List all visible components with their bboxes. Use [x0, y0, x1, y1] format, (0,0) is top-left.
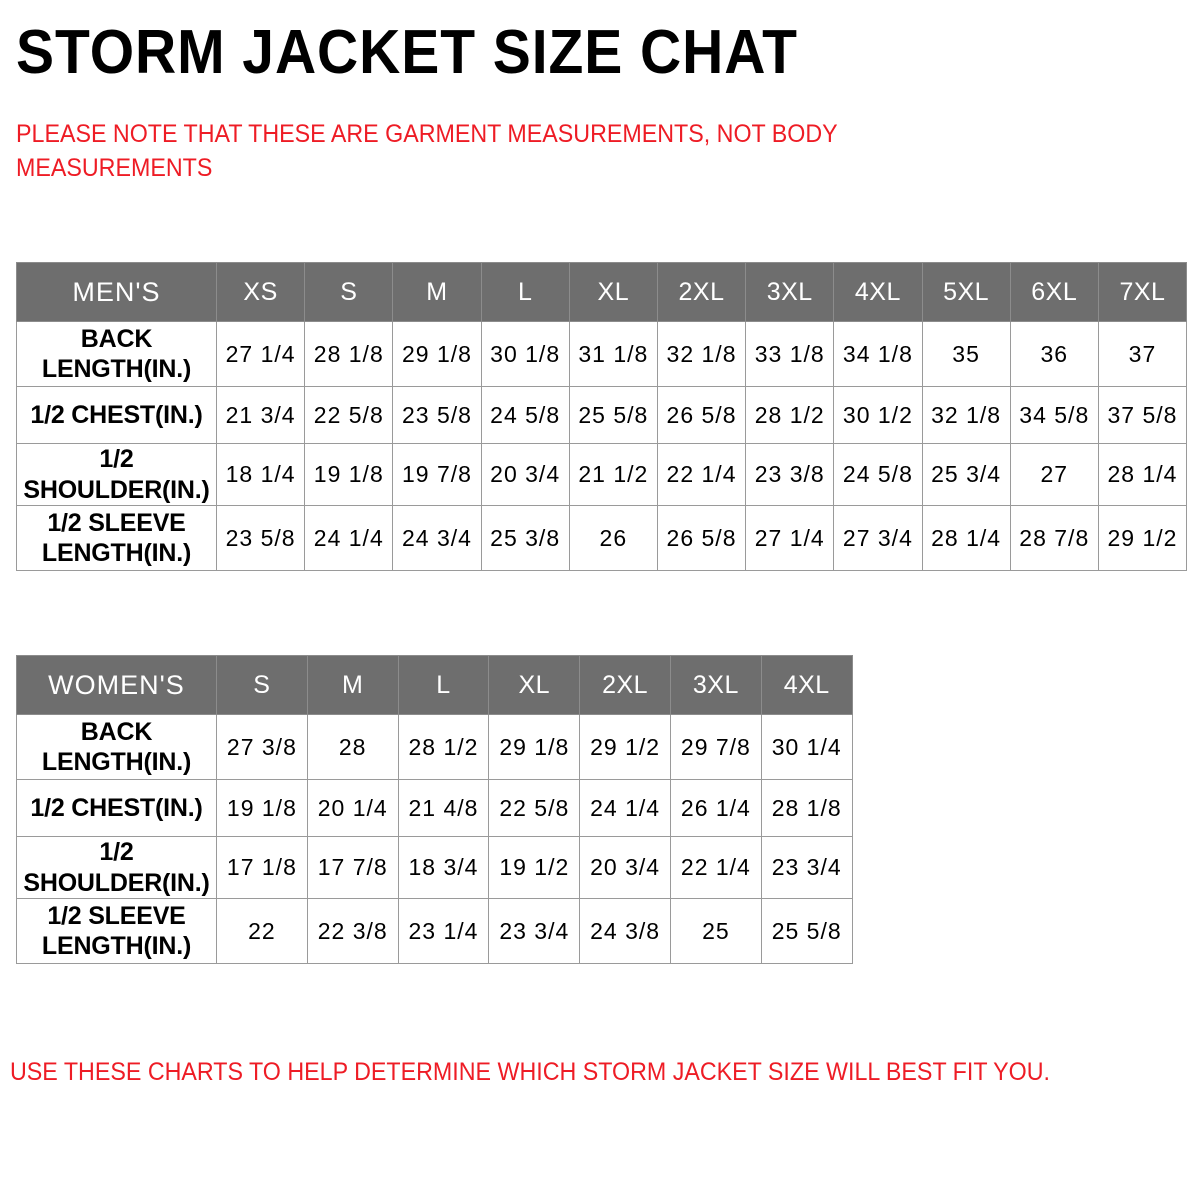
table-row: 1/2 SLEEVE LENGTH(IN.) 23 5/8 24 1/4 24 …	[17, 506, 1187, 571]
measurement-cell: 25 5/8	[569, 387, 657, 444]
measurement-cell: 22 5/8	[489, 780, 580, 837]
mens-size-header: S	[305, 263, 393, 322]
measurement-cell: 25 3/8	[481, 506, 569, 571]
measurement-cell: 23 3/4	[761, 837, 852, 899]
mens-size-header: 5XL	[922, 263, 1010, 322]
measurement-cell: 18 1/4	[217, 444, 305, 506]
mens-size-table: MEN'S XS S M L XL 2XL 3XL 4XL 5XL 6XL 7X…	[16, 262, 1187, 571]
womens-size-header: M	[307, 656, 398, 715]
row-label-half-sleeve-length: 1/2 SLEEVE LENGTH(IN.)	[17, 899, 217, 964]
measurement-cell: 23 3/4	[489, 899, 580, 964]
mens-header-row: MEN'S XS S M L XL 2XL 3XL 4XL 5XL 6XL 7X…	[17, 263, 1187, 322]
womens-size-header: 2XL	[580, 656, 671, 715]
measurement-cell: 17 1/8	[217, 837, 308, 899]
measurement-cell: 32 1/8	[657, 322, 745, 387]
measurement-cell: 22 5/8	[305, 387, 393, 444]
measurement-cell: 27 1/4	[217, 322, 305, 387]
measurement-cell: 29 1/2	[580, 715, 671, 780]
womens-size-header: L	[398, 656, 489, 715]
row-label-back-length: BACK LENGTH(IN.)	[17, 715, 217, 780]
mens-size-header: XS	[217, 263, 305, 322]
measurement-cell: 37	[1098, 322, 1186, 387]
size-chart-page: STORM JACKET SIZE CHAT PLEASE NOTE THAT …	[0, 0, 1200, 1200]
fit-guidance-note: USE THESE CHARTS TO HELP DETERMINE WHICH…	[10, 1058, 1107, 1087]
womens-size-header: XL	[489, 656, 580, 715]
table-row: BACK LENGTH(IN.) 27 1/4 28 1/8 29 1/8 30…	[17, 322, 1187, 387]
mens-size-header: M	[393, 263, 481, 322]
measurement-cell: 21 1/2	[569, 444, 657, 506]
table-row: 1/2 SHOULDER(IN.) 18 1/4 19 1/8 19 7/8 2…	[17, 444, 1187, 506]
row-label-back-length: BACK LENGTH(IN.)	[17, 322, 217, 387]
measurement-cell: 24 5/8	[481, 387, 569, 444]
measurement-cell: 28	[307, 715, 398, 780]
garment-measurement-note: PLEASE NOTE THAT THESE ARE GARMENT MEASU…	[16, 118, 946, 186]
measurement-cell: 29 1/8	[393, 322, 481, 387]
measurement-cell: 30 1/8	[481, 322, 569, 387]
measurement-cell: 24 5/8	[834, 444, 922, 506]
row-label-half-chest: 1/2 CHEST(IN.)	[17, 780, 217, 837]
measurement-cell: 27	[1010, 444, 1098, 506]
mens-size-header: 7XL	[1098, 263, 1186, 322]
measurement-cell: 20 1/4	[307, 780, 398, 837]
measurement-cell: 21 3/4	[217, 387, 305, 444]
measurement-cell: 23 3/8	[746, 444, 834, 506]
mens-size-header: L	[481, 263, 569, 322]
mens-size-header: 6XL	[1010, 263, 1098, 322]
measurement-cell: 29 1/2	[1098, 506, 1186, 571]
measurement-cell: 27 3/8	[217, 715, 308, 780]
mens-size-header: 2XL	[657, 263, 745, 322]
measurement-cell: 26 5/8	[657, 506, 745, 571]
measurement-cell: 28 1/4	[1098, 444, 1186, 506]
measurement-cell: 20 3/4	[580, 837, 671, 899]
mens-size-header: XL	[569, 263, 657, 322]
page-title: STORM JACKET SIZE CHAT	[16, 22, 798, 84]
measurement-cell: 19 1/2	[489, 837, 580, 899]
row-label-half-shoulder: 1/2 SHOULDER(IN.)	[17, 837, 217, 899]
womens-size-header: 4XL	[761, 656, 852, 715]
table-row: BACK LENGTH(IN.) 27 3/8 28 28 1/2 29 1/8…	[17, 715, 853, 780]
mens-size-header: 3XL	[746, 263, 834, 322]
measurement-cell: 25	[670, 899, 761, 964]
measurement-cell: 18 3/4	[398, 837, 489, 899]
table-row: 1/2 SHOULDER(IN.) 17 1/8 17 7/8 18 3/4 1…	[17, 837, 853, 899]
row-label-half-chest: 1/2 CHEST(IN.)	[17, 387, 217, 444]
table-row: 1/2 SLEEVE LENGTH(IN.) 22 22 3/8 23 1/4 …	[17, 899, 853, 964]
mens-corner-label: MEN'S	[17, 263, 217, 322]
measurement-cell: 22 3/8	[307, 899, 398, 964]
table-row: 1/2 CHEST(IN.) 19 1/8 20 1/4 21 4/8 22 5…	[17, 780, 853, 837]
measurement-cell: 25 5/8	[761, 899, 852, 964]
measurement-cell: 28 1/8	[761, 780, 852, 837]
womens-table-head: WOMEN'S S M L XL 2XL 3XL 4XL	[17, 656, 853, 715]
womens-size-header: 3XL	[670, 656, 761, 715]
womens-table-body: BACK LENGTH(IN.) 27 3/8 28 28 1/2 29 1/8…	[17, 715, 853, 964]
measurement-cell: 24 3/4	[393, 506, 481, 571]
measurement-cell: 28 1/4	[922, 506, 1010, 571]
measurement-cell: 28 7/8	[1010, 506, 1098, 571]
measurement-cell: 17 7/8	[307, 837, 398, 899]
measurement-cell: 28 1/2	[746, 387, 834, 444]
mens-size-header: 4XL	[834, 263, 922, 322]
measurement-cell: 22 1/4	[670, 837, 761, 899]
measurement-cell: 27 1/4	[746, 506, 834, 571]
measurement-cell: 23 1/4	[398, 899, 489, 964]
measurement-cell: 25 3/4	[922, 444, 1010, 506]
measurement-cell: 29 1/8	[489, 715, 580, 780]
measurement-cell: 34 5/8	[1010, 387, 1098, 444]
measurement-cell: 24 1/4	[305, 506, 393, 571]
row-label-half-sleeve-length: 1/2 SLEEVE LENGTH(IN.)	[17, 506, 217, 571]
measurement-cell: 34 1/8	[834, 322, 922, 387]
measurement-cell: 19 7/8	[393, 444, 481, 506]
measurement-cell: 26	[569, 506, 657, 571]
measurement-cell: 30 1/2	[834, 387, 922, 444]
womens-header-row: WOMEN'S S M L XL 2XL 3XL 4XL	[17, 656, 853, 715]
measurement-cell: 30 1/4	[761, 715, 852, 780]
measurement-cell: 28 1/2	[398, 715, 489, 780]
measurement-cell: 31 1/8	[569, 322, 657, 387]
measurement-cell: 32 1/8	[922, 387, 1010, 444]
mens-table-head: MEN'S XS S M L XL 2XL 3XL 4XL 5XL 6XL 7X…	[17, 263, 1187, 322]
womens-size-header: S	[217, 656, 308, 715]
measurement-cell: 35	[922, 322, 1010, 387]
measurement-cell: 22	[217, 899, 308, 964]
womens-size-table: WOMEN'S S M L XL 2XL 3XL 4XL BACK LENGTH…	[16, 655, 853, 964]
womens-corner-label: WOMEN'S	[17, 656, 217, 715]
mens-table-body: BACK LENGTH(IN.) 27 1/4 28 1/8 29 1/8 30…	[17, 322, 1187, 571]
measurement-cell: 23 5/8	[217, 506, 305, 571]
measurement-cell: 19 1/8	[217, 780, 308, 837]
measurement-cell: 28 1/8	[305, 322, 393, 387]
measurement-cell: 36	[1010, 322, 1098, 387]
measurement-cell: 22 1/4	[657, 444, 745, 506]
measurement-cell: 26 1/4	[670, 780, 761, 837]
measurement-cell: 23 5/8	[393, 387, 481, 444]
measurement-cell: 24 3/8	[580, 899, 671, 964]
measurement-cell: 26 5/8	[657, 387, 745, 444]
measurement-cell: 37 5/8	[1098, 387, 1186, 444]
row-label-half-shoulder: 1/2 SHOULDER(IN.)	[17, 444, 217, 506]
measurement-cell: 19 1/8	[305, 444, 393, 506]
table-row: 1/2 CHEST(IN.) 21 3/4 22 5/8 23 5/8 24 5…	[17, 387, 1187, 444]
measurement-cell: 33 1/8	[746, 322, 834, 387]
measurement-cell: 29 7/8	[670, 715, 761, 780]
measurement-cell: 20 3/4	[481, 444, 569, 506]
measurement-cell: 27 3/4	[834, 506, 922, 571]
measurement-cell: 24 1/4	[580, 780, 671, 837]
measurement-cell: 21 4/8	[398, 780, 489, 837]
